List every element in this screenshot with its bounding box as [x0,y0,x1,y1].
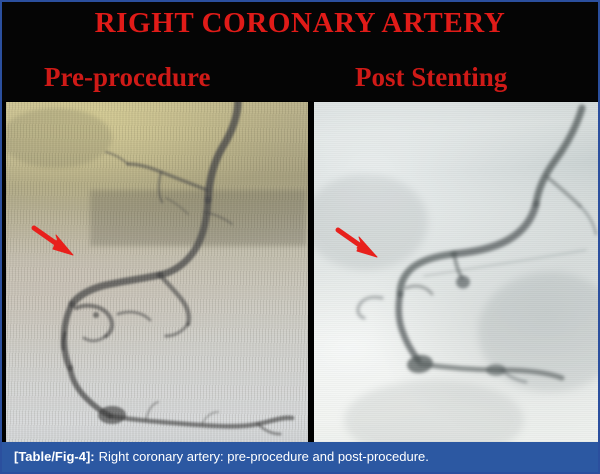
caption-body: Right coronary artery: pre-procedure and… [99,449,429,464]
panel-subtitle-pre-procedure: Pre-procedure [44,62,210,92]
caption-bar: [Table/Fig-4]:Right coronary artery: pre… [2,442,598,472]
caption-text: [Table/Fig-4]:Right coronary artery: pre… [2,449,429,465]
figure-container: RIGHT CORONARY ARTERY Pre-procedure Post… [0,0,600,474]
annotation-arrow-pre [6,102,308,444]
figure-title: RIGHT CORONARY ARTERY [2,6,598,40]
caption-label: [Table/Fig-4]: [14,449,95,464]
angiogram-image-pre-procedure [6,102,308,444]
panel-subtitle-post-stenting: Post Stenting [355,62,507,92]
annotation-arrow-post [314,102,598,444]
angiogram-image-post-stenting [314,102,598,444]
